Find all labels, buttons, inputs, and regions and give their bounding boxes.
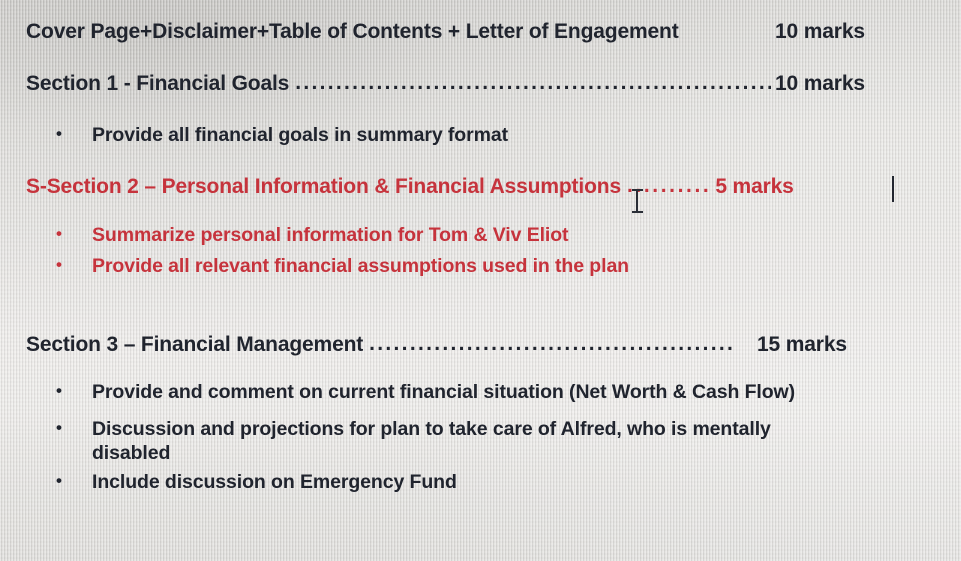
- list-item[interactable]: • Include discussion on Emergency Fund: [56, 471, 921, 495]
- heading-section-3[interactable]: Section 3 – Financial Management .......…: [26, 333, 947, 357]
- heading-section-2[interactable]: S-Section 2 – Personal Information & Fin…: [26, 175, 947, 199]
- list-item[interactable]: • Summarize personal information for Tom…: [56, 224, 568, 248]
- bullet-dot-icon: •: [56, 471, 92, 491]
- i-beam-mouse-pointer: [632, 189, 643, 213]
- marks-value-section-2: 5 marks: [715, 175, 901, 199]
- screen-photo-backdrop: Cover Page+Disclaimer+Table of Contents …: [0, 0, 961, 561]
- bullet-dot-icon: •: [56, 381, 92, 401]
- list-item-label: Provide all relevant financial assumptio…: [92, 255, 629, 279]
- list-item[interactable]: • Provide and comment on current financi…: [56, 381, 921, 405]
- heading-title-cover: Cover Page+Disclaimer+Table of Contents …: [26, 20, 679, 44]
- bullet-dot-icon: •: [56, 224, 92, 244]
- list-item[interactable]: • Discussion and projections for plan to…: [56, 418, 846, 466]
- ibeam-bottom-cap: [632, 211, 643, 213]
- marks-value-cover: 10 marks: [775, 20, 947, 44]
- list-item-label: Provide and comment on current financial…: [92, 381, 921, 405]
- list-item-label: Discussion and projections for plan to t…: [92, 418, 846, 466]
- marks-value-section-3: 15 marks: [757, 333, 947, 357]
- bullet-dot-icon: •: [56, 418, 92, 438]
- heading-section-1[interactable]: Section 1 - Financial Goals ............…: [26, 72, 947, 96]
- marks-value-section-1: 10 marks: [775, 72, 947, 96]
- leader-dots-section-1: ........................................…: [295, 71, 771, 95]
- list-item-label: Provide all financial goals in summary f…: [92, 124, 508, 148]
- list-item-label: Summarize personal information for Tom &…: [92, 224, 568, 248]
- text-insertion-caret: [892, 176, 894, 202]
- bullet-dot-icon: •: [56, 124, 92, 144]
- bullet-dot-icon: •: [56, 255, 92, 275]
- heading-title-section-1: Section 1 - Financial Goals: [26, 72, 289, 96]
- heading-title-section-2: S-Section 2 – Personal Information & Fin…: [26, 175, 621, 199]
- heading-cover-page[interactable]: Cover Page+Disclaimer+Table of Contents …: [26, 20, 947, 44]
- list-item-label: Include discussion on Emergency Fund: [92, 471, 921, 495]
- heading-title-section-3: Section 3 – Financial Management: [26, 333, 363, 357]
- list-item[interactable]: • Provide all relevant financial assumpt…: [56, 255, 629, 279]
- list-item[interactable]: • Provide all financial goals in summary…: [56, 124, 508, 148]
- ibeam-stem: [636, 191, 638, 211]
- leader-dots-section-3: ........................................…: [369, 332, 753, 356]
- document-body: Cover Page+Disclaimer+Table of Contents …: [0, 0, 961, 561]
